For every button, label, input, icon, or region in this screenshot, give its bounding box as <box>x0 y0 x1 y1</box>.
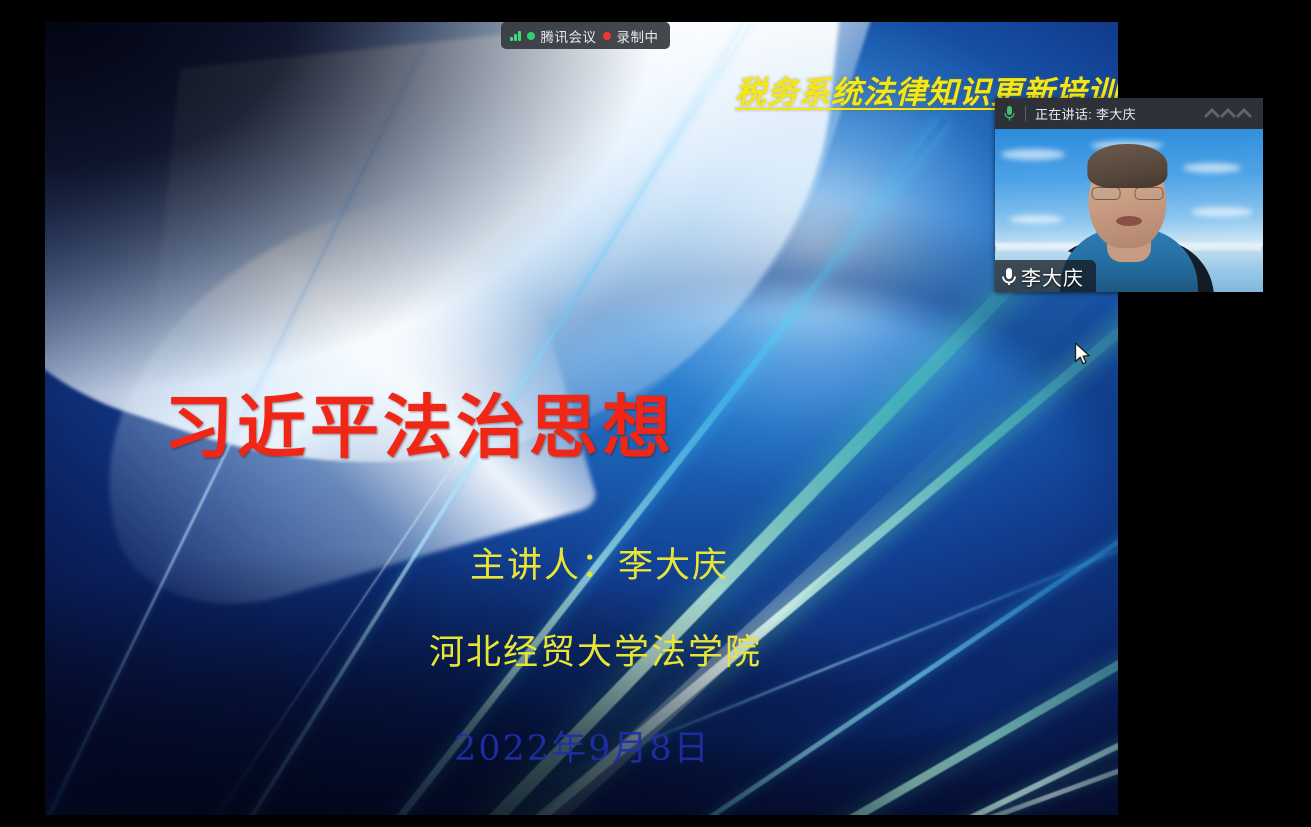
screen-root: 税务系统法律知识更新培训 习近平法治思想 主讲人：李大庆 河北经贸大学法学院 2… <box>0 0 1311 827</box>
cloud-shape <box>1001 149 1065 160</box>
participant-video-tile[interactable]: 李大庆 <box>995 129 1263 292</box>
slide-organization-line: 河北经贸大学法学院 <box>429 624 762 675</box>
slide-presenter-line: 主讲人：李大庆 <box>470 537 729 588</box>
participant-name-label: 李大庆 <box>1021 262 1084 291</box>
cloud-shape <box>1009 215 1063 224</box>
speaker-video-panel[interactable]: 正在讲话: 李大庆 <box>995 98 1263 292</box>
chevron-collapse-icon[interactable] <box>1202 98 1254 129</box>
recording-label: 录制中 <box>617 26 659 46</box>
participant-name-badge: 李大庆 <box>995 260 1096 292</box>
signal-bars-icon <box>510 30 521 41</box>
microphone-icon <box>1001 266 1017 287</box>
recording-dot-icon <box>603 32 611 40</box>
connection-status-dot <box>527 32 535 40</box>
participant-glasses <box>1092 187 1164 200</box>
speaking-status-label: 正在讲话: 李大庆 <box>1035 104 1136 123</box>
header-divider <box>1025 106 1026 121</box>
cloud-shape <box>1191 207 1253 217</box>
participant-mouth <box>1116 216 1142 226</box>
cloud-shape <box>1183 163 1241 173</box>
participant-hair <box>1087 144 1167 188</box>
meeting-app-label: 腾讯会议 <box>541 26 597 46</box>
slide-main-title: 习近平法治思想 <box>164 371 675 471</box>
microphone-icon <box>1003 105 1016 122</box>
shared-slide-area: 税务系统法律知识更新培训 习近平法治思想 主讲人：李大庆 河北经贸大学法学院 2… <box>45 22 1118 815</box>
recording-status-pill[interactable]: 腾讯会议 录制中 <box>501 22 670 49</box>
slide-date-line: 2022年9月8日 <box>454 720 711 771</box>
video-panel-header[interactable]: 正在讲话: 李大庆 <box>995 98 1263 129</box>
